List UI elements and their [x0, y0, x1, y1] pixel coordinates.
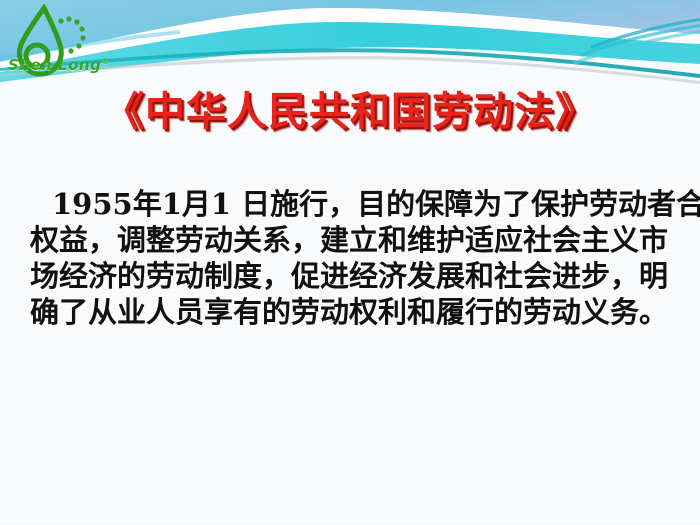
- header-wave-banner: [0, 0, 700, 90]
- slide-body: 1955年1月1 日施行，目的保障为了保护劳动者合法 权益，调整劳动关系，建立和…: [30, 186, 670, 330]
- trademark-icon: ®: [101, 57, 110, 66]
- dot-5: [80, 35, 85, 40]
- dot-6: [76, 43, 81, 48]
- dot-2: [66, 16, 71, 21]
- dot-7: [68, 48, 73, 53]
- body-line: 场经济的劳动制度，促进经济发展和社会进步，明: [30, 258, 670, 294]
- presentation-slide: Shen Long® 《中华人民共和国劳动法》 1955年1月1 日施行，目的保…: [0, 0, 700, 525]
- body-line: 1955年1月1 日施行，目的保障为了保护劳动者合法: [30, 186, 670, 222]
- slide-title: 《中华人民共和国劳动法》: [0, 88, 700, 136]
- dot-3: [74, 19, 79, 24]
- logo-wordmark: Shen Long®: [8, 56, 110, 74]
- body-line: 权益，调整劳动关系，建立和维护适应社会主义市: [30, 222, 670, 258]
- header-wave-graphic: [0, 0, 700, 90]
- body-line: 确了从业人员享有的劳动权利和履行的劳动义务。: [30, 294, 670, 330]
- dot-1: [58, 18, 63, 23]
- logo-wordmark-text: Shen Long: [8, 56, 101, 74]
- dot-4: [79, 26, 84, 31]
